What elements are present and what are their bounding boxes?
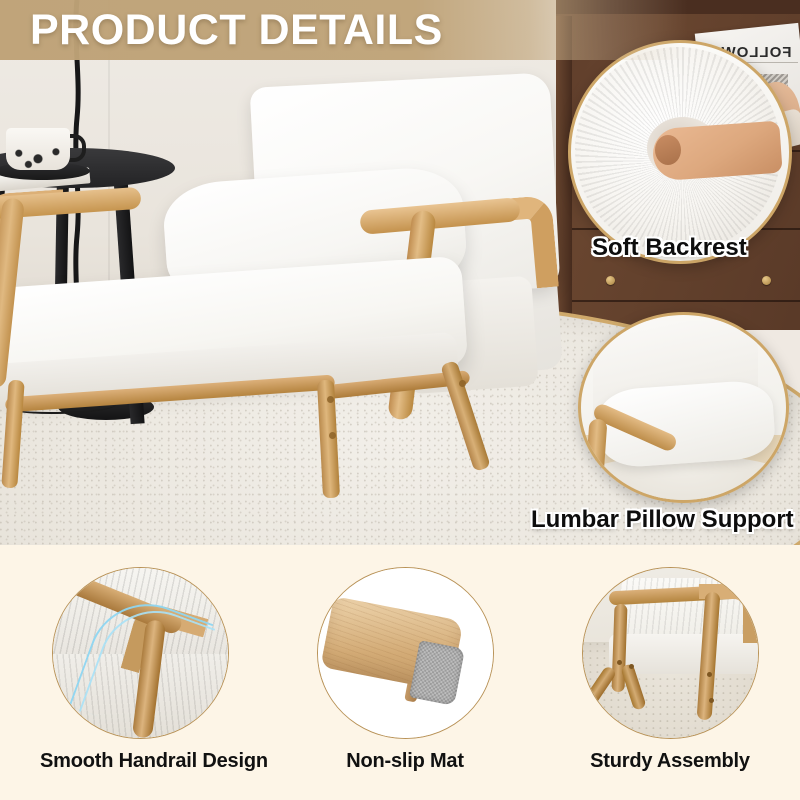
page-title: PRODUCT DETAILS <box>30 8 443 53</box>
callout-label-lumbar-pillow-support: Lumbar Pillow Support <box>531 506 794 534</box>
product-details-page: FOLLOW <box>0 0 800 800</box>
coffee-mug <box>6 128 70 170</box>
callout-label-soft-backrest: Soft Backrest <box>592 234 747 262</box>
feature-image-non-slip-mat <box>317 567 494 739</box>
feature-label-non-slip-mat: Non-slip Mat <box>305 750 505 773</box>
feature-image-sturdy-assembly <box>582 567 759 739</box>
frame-bolt <box>459 380 466 387</box>
mug-pattern <box>6 142 70 170</box>
feature-label-smooth-handrail-design: Smooth Handrail Design <box>40 750 240 773</box>
feature-sturdy-assembly: Sturdy Assembly <box>570 567 770 773</box>
fingers <box>655 135 681 165</box>
features-section: Smooth Handrail Design Non-slip Mat <box>0 545 800 800</box>
hero-photo: FOLLOW <box>0 0 800 560</box>
dresser-knob <box>762 276 771 285</box>
callout-soft-backrest <box>568 40 792 264</box>
assembly-bolt <box>629 664 634 669</box>
frame-bolt <box>327 396 334 403</box>
feature-image-smooth-handrail-design <box>52 567 229 739</box>
callout-lumbar-pillow <box>578 312 789 503</box>
assembly-bolt <box>707 672 712 677</box>
dresser-knob <box>606 276 615 285</box>
feature-smooth-handrail-design: Smooth Handrail Design <box>40 567 240 773</box>
armchair <box>105 80 555 500</box>
dresser-drawer-line <box>572 300 800 302</box>
feature-label-sturdy-assembly: Sturdy Assembly <box>570 750 770 773</box>
feature-non-slip-mat: Non-slip Mat <box>305 567 505 773</box>
assembly-bolt <box>709 698 714 703</box>
assembly-bolt <box>617 660 622 665</box>
frame-bolt <box>329 432 336 439</box>
